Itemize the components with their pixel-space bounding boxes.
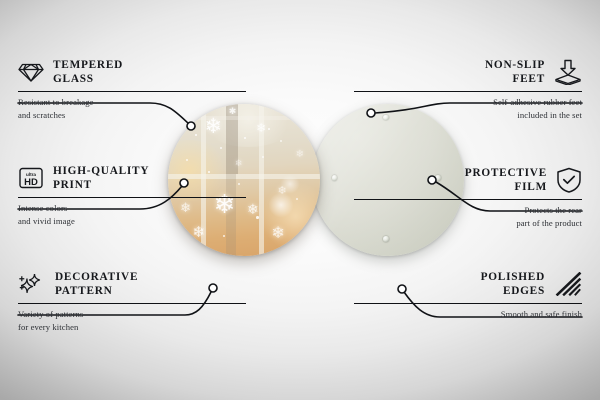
- feature-title: HIGH-QUALITY PRINT: [53, 164, 149, 193]
- feature-description: Smooth and safe finish: [354, 308, 582, 320]
- snow-speck: [256, 216, 259, 219]
- shield-check-icon: [556, 167, 582, 193]
- diagonal-stripes-icon: [554, 272, 582, 296]
- snow-speck: [280, 140, 282, 142]
- diamond-icon: [18, 61, 44, 83]
- feature-title: PROTECTIVE FILM: [465, 166, 547, 195]
- snow-speck: [223, 235, 225, 237]
- feature-description: Variety of patterns for every kitchen: [18, 308, 246, 332]
- divider: [18, 303, 246, 305]
- feature-title: NON-SLIP FEET: [485, 58, 545, 87]
- snowflake: ❄: [277, 186, 286, 197]
- feature-title: DECORATIVE PATTERN: [55, 270, 138, 299]
- feature-decorative-pattern: DECORATIVE PATTERN Variety of patterns f…: [18, 270, 246, 333]
- feature-title: TEMPERED GLASS: [53, 58, 123, 87]
- divider: [18, 91, 246, 93]
- feature-description: Intense colors and vivid image: [18, 202, 246, 226]
- feature-description: Protects the rear part of the product: [354, 204, 582, 228]
- snowflake: ❄: [271, 226, 284, 242]
- snow-speck: [195, 134, 197, 136]
- rubber-foot: [332, 175, 338, 181]
- feature-title: POLISHED EDGES: [481, 270, 545, 299]
- snow-speck: [244, 137, 246, 139]
- feature-tempered-glass: TEMPERED GLASS Resistant to breakage and…: [18, 58, 246, 121]
- snow-speck: [186, 159, 188, 161]
- arrow-onto-pad-icon: [554, 59, 582, 85]
- divider: [354, 199, 582, 201]
- snow-speck: [296, 198, 298, 200]
- feature-non-slip-feet: NON-SLIP FEET Self-adhesive rubber feet …: [354, 58, 582, 121]
- divider: [354, 303, 582, 305]
- rubber-foot: [383, 236, 389, 242]
- divider: [18, 197, 246, 199]
- snow-speck: [268, 128, 270, 130]
- snow-speck: [220, 147, 223, 150]
- sparkles-icon: [18, 272, 46, 296]
- feature-polished-edges: POLISHED EDGES Smooth and safe finish: [354, 270, 582, 321]
- light-bloom: [259, 183, 320, 250]
- feature-description: Self-adhesive rubber feet included in th…: [354, 96, 582, 120]
- product-infographic: ❄ ❄ ❄ ❄ ❄ ❄ ❄ ❄ ❄ ❄ ✱: [0, 0, 600, 400]
- feature-high-quality-print: ultra HD HIGH-QUALITY PRINT Intense colo…: [18, 164, 246, 227]
- snowflake: ❄: [256, 122, 266, 134]
- snowflake: ❄: [296, 150, 304, 160]
- ultra-hd-badge-icon: ultra HD: [18, 166, 44, 190]
- snowflake: ❄: [192, 226, 205, 241]
- snow-speck: [262, 156, 264, 158]
- badge-large-text: HD: [24, 177, 38, 188]
- divider: [354, 91, 582, 93]
- feature-description: Resistant to breakage and scratches: [18, 96, 246, 120]
- feature-protective-film: PROTECTIVE FILM Protects the rear part o…: [354, 166, 582, 229]
